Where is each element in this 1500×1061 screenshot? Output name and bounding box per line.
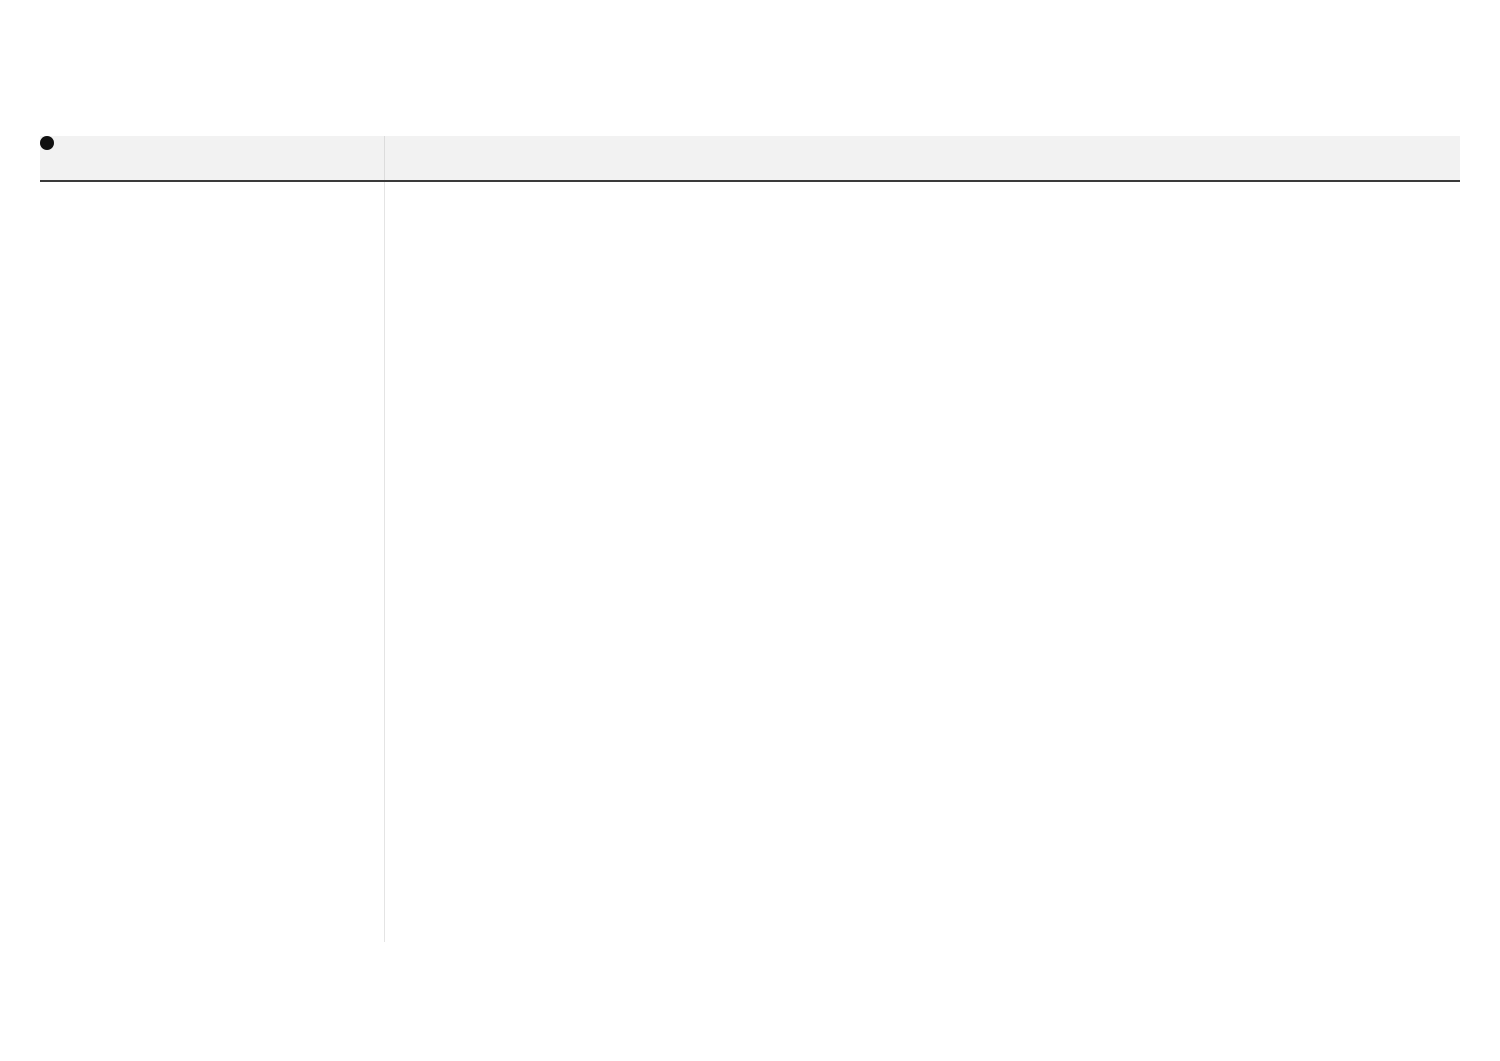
label-column-divider bbox=[384, 182, 385, 942]
gantt-chart bbox=[40, 136, 1460, 942]
gantt-grid-body bbox=[40, 182, 1460, 942]
month-header-row bbox=[40, 136, 1460, 182]
launch-milestone-dot bbox=[40, 136, 54, 150]
header-column-divider bbox=[384, 136, 385, 180]
